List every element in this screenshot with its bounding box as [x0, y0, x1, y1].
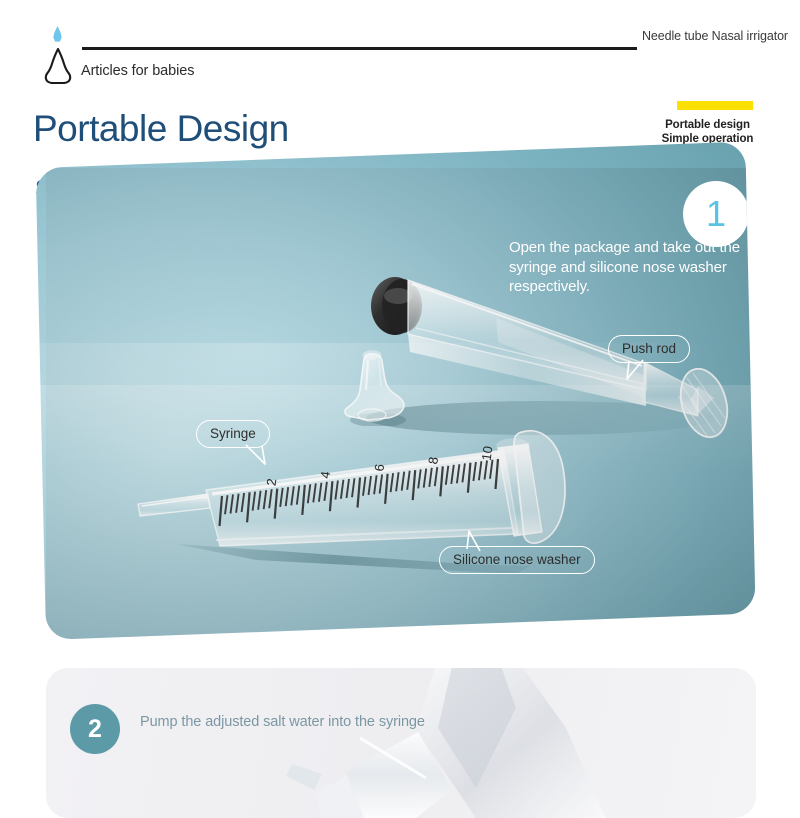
product-photo-panel: 246810 1 Open the package and take out t… — [36, 141, 756, 640]
product-kicker: Needle tube Nasal irrigator — [642, 29, 788, 43]
callout-washer-label: Silicone nose washer — [453, 552, 581, 567]
callout-syringe: Syringe — [196, 420, 270, 448]
brand-label: Articles for babies — [81, 63, 194, 79]
page-header: Articles for babies Needle tube Nasal ir… — [0, 0, 800, 100]
callout-push-rod-label: Push rod — [622, 341, 676, 356]
callout-push-rod: Push rod — [608, 335, 690, 363]
nasal-aspirator-outline-icon — [44, 48, 72, 84]
callout-tail-icon — [625, 360, 645, 378]
accent-bar — [677, 101, 753, 110]
water-droplet-icon — [52, 26, 63, 43]
callout-syringe-label: Syringe — [210, 426, 256, 441]
feature-badge-line1: Portable design — [665, 119, 750, 131]
callout-tail-icon — [245, 445, 265, 463]
step-2-panel — [46, 668, 756, 818]
callout-tail-icon — [466, 531, 486, 549]
step-2-photo — [46, 668, 756, 818]
header-divider — [82, 47, 637, 50]
step-2-text: Pump the adjusted salt water into the sy… — [140, 708, 470, 737]
step-1-text: Open the package and take out the syring… — [509, 238, 756, 297]
callout-silicone-nose-washer: Silicone nose washer — [439, 546, 595, 574]
step-2-badge: 2 — [70, 704, 120, 754]
brand-logo — [40, 26, 76, 82]
page-title: Portable Design — [33, 108, 289, 150]
